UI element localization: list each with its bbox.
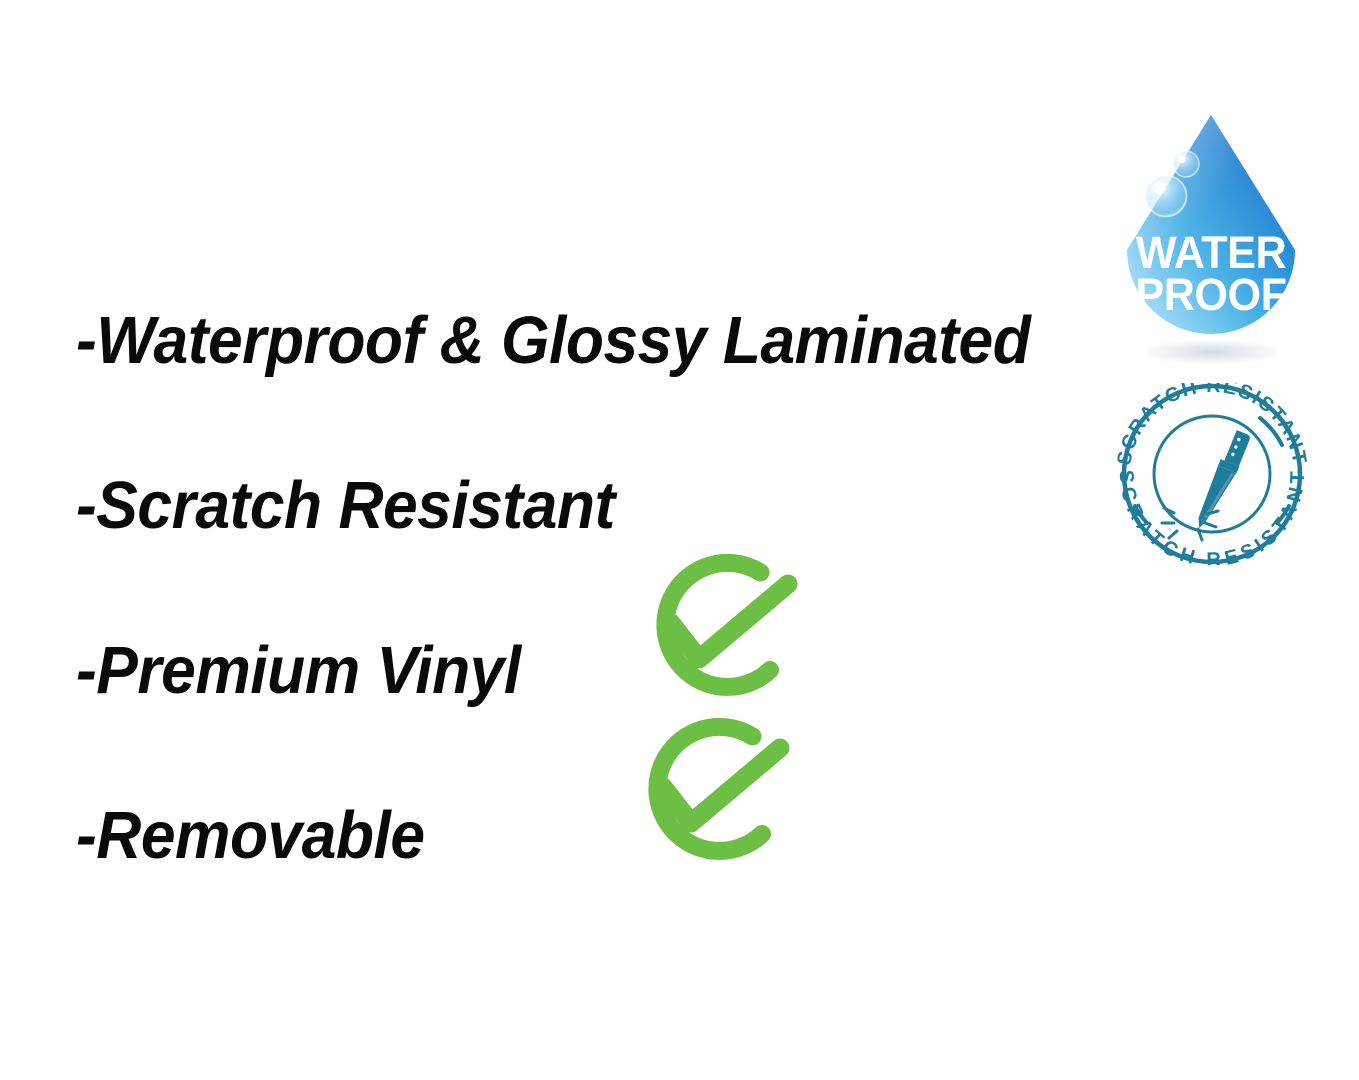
check-badge-removable	[630, 720, 825, 875]
list-item: -Removable	[76, 753, 1106, 918]
impact-lines-icon	[1162, 508, 1218, 540]
scratch-resistant-stamp-icon: SCRATCH RESISTANT SCRATCH RESISTANT	[1112, 383, 1312, 565]
check-badge-premium-vinyl	[638, 556, 833, 711]
feature-label-scratch-resistant: -Scratch Resistant	[76, 472, 615, 539]
check-circle-icon	[630, 720, 825, 875]
water-drop-icon	[1102, 100, 1320, 365]
feature-label-removable: -Removable	[76, 802, 425, 869]
feature-label-premium-vinyl: -Premium Vinyl	[76, 637, 521, 704]
scratch-arc-top-text: SCRATCH RESISTANT	[1113, 383, 1310, 467]
feature-infographic: -Waterproof & Glossy Laminated -Scratch …	[0, 0, 1359, 1080]
waterproof-badge: WATER PROOF	[1102, 100, 1320, 365]
feature-label-waterproof: -Waterproof & Glossy Laminated	[76, 307, 1030, 374]
list-item: -Premium Vinyl	[76, 588, 1106, 753]
scratch-resistant-badge: SCRATCH RESISTANT SCRATCH RESISTANT	[1112, 383, 1312, 565]
list-item: -Waterproof & Glossy Laminated	[76, 258, 1106, 423]
knife-icon	[1194, 429, 1252, 534]
feature-list: -Waterproof & Glossy Laminated -Scratch …	[76, 258, 1106, 918]
list-item: -Scratch Resistant	[76, 423, 1106, 588]
check-circle-icon	[638, 556, 833, 711]
scratch-arc-top-path: SCRATCH RESISTANT	[1113, 383, 1310, 467]
